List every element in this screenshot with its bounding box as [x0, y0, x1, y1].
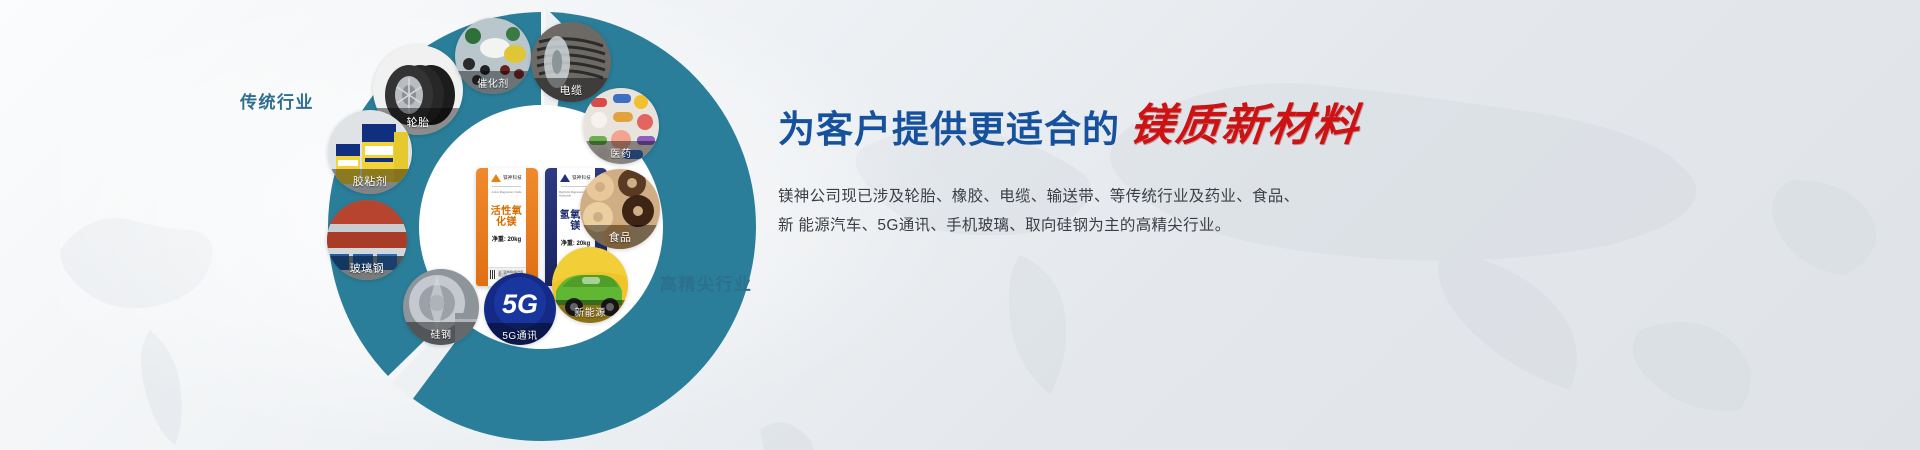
svg-text:5G: 5G — [502, 289, 538, 319]
brand-logo-icon — [491, 174, 501, 182]
node-5g[interactable]: 5G 5G通讯 — [484, 273, 556, 345]
node-food-label: 食品 — [580, 225, 660, 249]
label-advanced-industries: 高精尖行业 — [660, 270, 753, 295]
product-bag-left: 镁神科技 Active Magnesium Oxide 活性氧化镁 净重: 20… — [476, 168, 538, 286]
left-bag-name-en: Active Magnesium Oxide — [492, 190, 522, 194]
node-food[interactable]: 食品 — [580, 169, 660, 249]
node-frp-label: 玻璃钢 — [327, 256, 407, 280]
node-new-energy-label: 新能源 — [552, 300, 628, 323]
node-adhesive-label: 胶粘剂 — [328, 169, 412, 194]
node-medicine[interactable]: 医药 — [583, 88, 659, 164]
description-paragraph: 镁神公司现已涉及轮胎、橡胶、电缆、输送带、等传统行业及药业、食品、新 能源汽车、… — [778, 182, 1308, 240]
brand-logo-icon — [560, 174, 570, 182]
promo-banner: 镁神科技 Active Magnesium Oxide 活性氧化镁 净重: 20… — [0, 0, 1920, 450]
industry-wheel-diagram: 镁神科技 Active Magnesium Oxide 活性氧化镁 净重: 20… — [318, 4, 764, 450]
node-frp[interactable]: 玻璃钢 — [327, 200, 407, 280]
node-medicine-label: 医药 — [583, 141, 659, 164]
headline-red-text: 镁质新材料 — [1128, 104, 1363, 148]
node-adhesive[interactable]: 胶粘剂 — [328, 110, 412, 194]
node-silicon-steel[interactable]: 硅钢 — [403, 269, 479, 345]
left-bag-net-weight: 净重: 20kg — [492, 234, 521, 243]
node-catalyst[interactable]: 催化剂 — [455, 18, 531, 94]
left-bag-name: 活性氧化镁 — [488, 207, 526, 228]
node-5g-label: 5G通讯 — [484, 323, 556, 345]
headline: 为客户提供更适合的 镁质新材料 — [778, 104, 1498, 148]
label-traditional-industries: 传统行业 — [240, 88, 314, 113]
headline-blue-text: 为客户提供更适合的 — [778, 111, 1120, 148]
copy-block: 为客户提供更适合的 镁质新材料 镁神公司现已涉及轮胎、橡胶、电缆、输送带、等传统… — [778, 104, 1498, 240]
left-bag-brand: 镁神科技 — [503, 175, 522, 181]
node-new-energy[interactable]: 新能源 — [552, 247, 628, 323]
node-silicon-steel-label: 硅钢 — [403, 322, 479, 345]
node-catalyst-label: 催化剂 — [455, 71, 531, 94]
description-line-2: 能源汽车、5G通讯、手机玻璃、取向硅钢为主的高精尖行业。 — [798, 217, 1230, 234]
